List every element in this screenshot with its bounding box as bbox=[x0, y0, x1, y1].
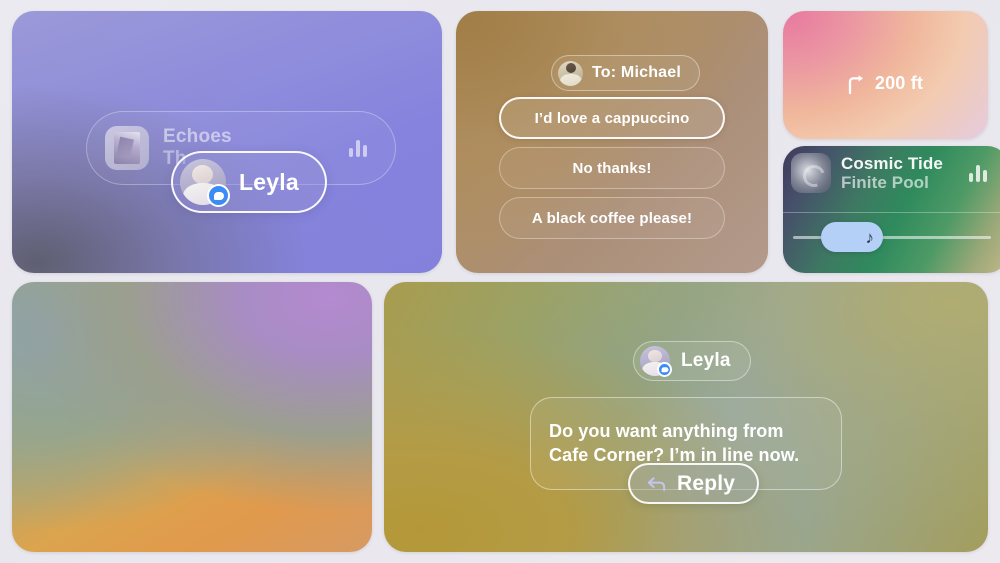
reply-suggestions-panel: To: Michael I’d love a cappuccino No tha… bbox=[456, 11, 768, 273]
turn-right-icon bbox=[848, 74, 866, 94]
navigation-arrival-panel: Arrive 10:08 AM Funky Monkey Gifts 8:32 bbox=[12, 282, 372, 552]
equalizer-icon bbox=[349, 139, 367, 157]
message-line-2: Cafe Corner? I’m in line now. bbox=[549, 445, 799, 465]
message-line-1: Do you want anything from bbox=[549, 421, 784, 441]
reply-arrow-icon bbox=[646, 475, 667, 493]
notification-chip-leyla[interactable]: Leyla bbox=[171, 151, 327, 213]
messages-badge-icon bbox=[657, 362, 672, 377]
reply-button-label: Reply bbox=[677, 472, 735, 496]
message-sender-chip[interactable]: Leyla bbox=[633, 341, 751, 381]
distance-text: 200 ft bbox=[875, 73, 923, 94]
suggestion-option-0[interactable]: I’d love a cappuccino bbox=[499, 97, 725, 139]
music-notification-panel: Echoes Th Leyla bbox=[12, 11, 442, 273]
album-art-icon bbox=[791, 153, 831, 193]
music-note-icon: ♪ bbox=[866, 229, 875, 246]
player-album-name: Finite Pool bbox=[841, 173, 943, 192]
avatar-icon bbox=[558, 61, 583, 86]
avatar-icon bbox=[180, 159, 226, 205]
player-scrubber-thumb[interactable]: ♪ bbox=[821, 222, 883, 252]
suggestion-option-1[interactable]: No thanks! bbox=[499, 147, 725, 189]
avatar-icon bbox=[640, 346, 670, 376]
player-header: Cosmic Tide Finite Pool bbox=[791, 153, 999, 193]
distance-row: 200 ft bbox=[783, 73, 988, 94]
widget-board: Echoes Th Leyla To: Michael I’d love a c… bbox=[0, 0, 1000, 563]
message-text: Do you want anything from Cafe Corner? I… bbox=[549, 420, 799, 468]
equalizer-icon bbox=[969, 164, 987, 182]
navigation-distance-panel: 200 ft bbox=[783, 11, 988, 139]
player-meta: Cosmic Tide Finite Pool bbox=[841, 153, 943, 192]
player-divider bbox=[783, 212, 1000, 213]
suggestion-option-2[interactable]: A black coffee please! bbox=[499, 197, 725, 239]
notification-sender-name: Leyla bbox=[239, 169, 299, 196]
reply-button[interactable]: Reply bbox=[628, 463, 759, 504]
player-track-title: Cosmic Tide bbox=[841, 154, 943, 173]
album-art-icon bbox=[105, 126, 149, 170]
message-sender-name: Leyla bbox=[681, 350, 731, 372]
music-player-panel: Cosmic Tide Finite Pool ♪ bbox=[783, 146, 1000, 273]
now-playing-title: Echoes bbox=[163, 126, 232, 148]
messages-badge-icon bbox=[207, 184, 230, 207]
recipient-chip[interactable]: To: Michael bbox=[551, 55, 700, 91]
recipient-label: To: Michael bbox=[592, 64, 681, 82]
